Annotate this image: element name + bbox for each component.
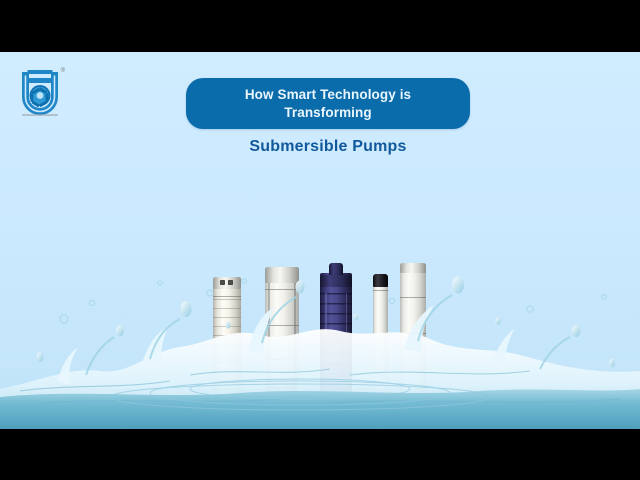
title-banner: How Smart Technology is Transforming: [186, 78, 470, 129]
pump-2-stainless-strainer-submersible-pump: [265, 267, 299, 429]
registered-trademark-symbol: ®: [61, 68, 65, 74]
subtitle-text: Submersible Pumps: [186, 138, 470, 156]
pump-2-strainer: [267, 379, 297, 429]
pump-5-wide-stainless-submersible-pump: [400, 263, 426, 429]
pump-3-navy-borewell-submersible-pump: [320, 263, 352, 429]
pump-4-slim-black-cap-submersible-pump: [373, 274, 388, 429]
letterbox-top: [0, 0, 640, 52]
slide-canvas: ® How Smart Technology is Transforming S…: [0, 52, 640, 429]
banner-title-text: How Smart Technology is Transforming: [186, 86, 470, 122]
logo-mark-icon: [14, 64, 66, 122]
video-frame: ® How Smart Technology is Transforming S…: [0, 0, 640, 480]
pump-3-strainer: [323, 403, 349, 429]
pump-1-port-left: [220, 280, 225, 285]
company-logo: ®: [14, 64, 66, 122]
pump-1-cream-ribbed-submersible-pump: [213, 277, 241, 429]
pump-1-port-right: [228, 280, 233, 285]
letterbox-bottom: [0, 429, 640, 480]
pump-4-black-cap: [373, 274, 388, 287]
